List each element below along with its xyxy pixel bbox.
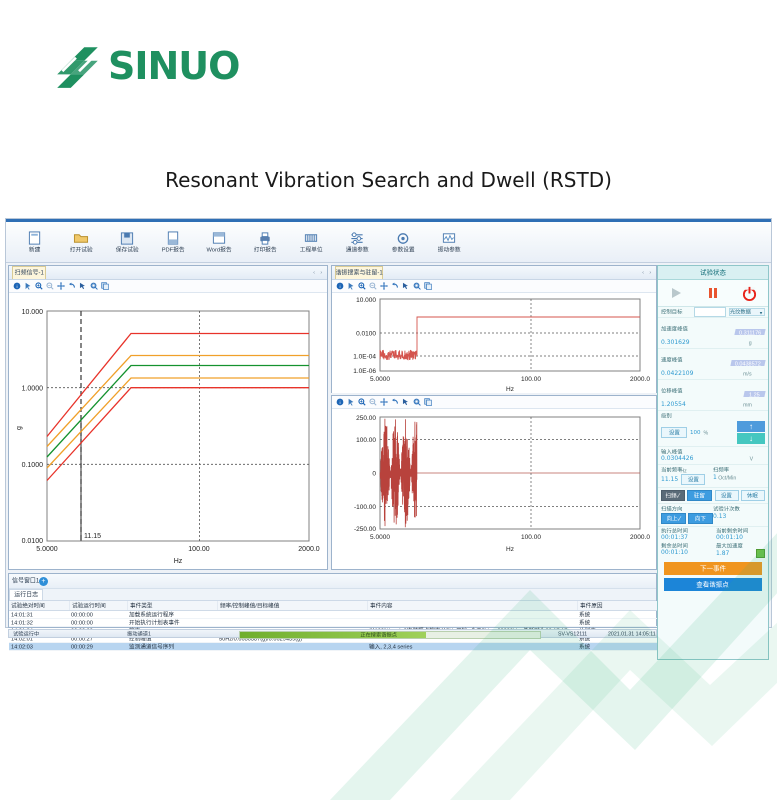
metric-unit: m/s	[744, 371, 765, 376]
svg-text:0.0100: 0.0100	[356, 331, 376, 338]
sweep-profile-chart[interactable]: 10.000 1.0000 0.1000 0.0100 5.0000 100.0…	[9, 293, 327, 569]
undo-arrow-icon[interactable]	[391, 398, 399, 406]
log-cell-2: 开始执行计划表事件	[127, 619, 217, 627]
svg-text:Hz: Hz	[506, 546, 514, 553]
stop-button[interactable]	[739, 284, 761, 302]
resonance-magnitude-chart[interactable]: 10.000 0.0100 1.0E-04 1.0E-06 5.0000 100…	[332, 293, 656, 393]
log-cell-0: 14:01:31	[9, 611, 69, 619]
chevron-down-icon: ▾	[760, 309, 763, 315]
input-peak-label: 输入峰值	[661, 448, 682, 456]
log-cell-0: 14:01:32	[9, 619, 69, 627]
toolbar-button-6[interactable]: 工程单位	[288, 231, 334, 253]
pan-icon[interactable]	[57, 282, 65, 290]
tab-run-log-label: 运行日志	[14, 591, 38, 599]
test-count-group: 试验计次数 0.13	[713, 506, 765, 524]
dir-down-label: 向下	[695, 515, 706, 523]
page-title: Resonant Vibration Search and Dwell (RST…	[0, 168, 777, 192]
mode-sweep-label: 扫频✓	[666, 492, 681, 500]
mode-sweep-button[interactable]: 扫频✓	[661, 490, 685, 501]
metric-unit: g	[749, 340, 765, 345]
metric-target: 0.311176	[734, 329, 766, 335]
svg-text:5.0000: 5.0000	[36, 546, 58, 553]
version-wrap: SV-VS12111	[554, 631, 581, 636]
rate-restore-label: 休眠	[747, 492, 758, 500]
tab-sweep-label: 扫频信号-1	[15, 269, 44, 277]
test-status-title: 试验状态	[700, 268, 726, 277]
table-row[interactable]: 14:01:3200:00:00开始执行计划表事件系统	[9, 619, 657, 627]
level-unit: %	[703, 429, 708, 435]
log-cell-5: 系统	[577, 619, 657, 627]
zoom-out-icon[interactable]	[46, 282, 54, 290]
resonance-phase-plot-area[interactable]: 250.00 100.00 0 -100.00 -250.00 5.0000 1…	[332, 409, 656, 569]
control-target-select[interactable]: 光纹数据▾	[729, 308, 765, 316]
power-icon	[742, 286, 757, 301]
toolbar-button-0[interactable]: 新建	[12, 231, 58, 253]
metric-2: 位移峰值1.251.20554mm	[658, 380, 768, 411]
input-peak-unit-wrap: V	[750, 456, 765, 461]
application-window: 新建打开试验保存试验PDF报告Word报告打印报告工程单位通道参数参数设置振动参…	[5, 218, 772, 628]
svg-text:5.0000: 5.0000	[370, 534, 390, 541]
page-root: SINUO Resonant Vibration Search and Dwel…	[0, 0, 777, 800]
zoom-region-icon[interactable]	[413, 398, 421, 406]
event-log-panel: 信号窗口1 + 运行日志 试验绝对时间试验运行时间事件类型频率/控制峰值/目标峰…	[8, 573, 657, 628]
current-freq-value: 11.15	[661, 476, 678, 483]
level-value: 100	[690, 430, 701, 436]
tab-resonance[interactable]: 谐振搜索与驻留-1	[335, 266, 383, 279]
dir-down-button[interactable]: 向下	[688, 513, 713, 524]
resonance-phase-panel: i 250.00 100.00 0 -100.00 -250.00	[331, 395, 657, 570]
svg-text:100.00: 100.00	[521, 376, 541, 383]
select-arrow-icon[interactable]	[402, 398, 410, 406]
sweep-rate-label-wrap: 扫频率	[713, 467, 765, 473]
log-col-1: 试验运行时间	[69, 601, 127, 611]
current-frequency-group: 当前频率 Hz 11.15 设置	[661, 467, 713, 485]
time-value: 1.87	[716, 550, 729, 557]
level-up-button[interactable]: ↑	[737, 421, 765, 432]
time-cell-1: 当前剩余时间00:01:10	[713, 527, 768, 542]
metric-unit: mm	[744, 402, 765, 407]
control-target-input[interactable]	[694, 307, 726, 317]
undo-arrow-icon[interactable]	[391, 282, 399, 290]
resonance-tab-nav[interactable]: ‹ ›	[642, 270, 653, 276]
info-icon[interactable]: i	[13, 282, 21, 290]
svg-text:5.0000: 5.0000	[370, 376, 390, 383]
sweep-rate-value: 1	[713, 474, 717, 481]
rate-restore-button[interactable]: 休眠	[741, 490, 765, 501]
arrow-down-icon: ↓	[749, 434, 753, 443]
svg-text:100.00: 100.00	[521, 534, 541, 541]
version-label: SV-VS12111	[558, 630, 587, 636]
svg-text:i: i	[339, 400, 340, 406]
save-disk-icon	[119, 231, 136, 246]
pan-icon[interactable]	[380, 398, 388, 406]
metric-target: 0.0438572	[731, 360, 766, 366]
zoom-in-icon[interactable]	[358, 282, 366, 290]
level-label: 级别	[661, 412, 672, 420]
status-left-wrap: 试验运行中	[9, 631, 123, 637]
status-left: 试验运行中	[13, 630, 39, 638]
play-icon	[669, 286, 683, 300]
sweep-dir-label: 扫描方向	[661, 505, 682, 513]
sweep-signal-panel: 扫频信号-1 ‹ › i	[8, 265, 328, 570]
toolbar-button-9[interactable]: 振动参数	[426, 231, 472, 253]
svg-text:2000.0: 2000.0	[630, 376, 650, 383]
log-header-row: 试验绝对时间试验运行时间事件类型频率/控制峰值/目标峰值事件内容事件原因	[9, 601, 657, 611]
control-target-value: 光纹数据	[730, 308, 751, 316]
table-row[interactable]: 14:01:3100:00:00加载系统运行程序系统	[9, 611, 657, 619]
units-icon	[303, 231, 320, 246]
log-cell-4: 输入, 2,3,4 series	[367, 643, 577, 651]
log-col-4: 事件内容	[367, 601, 577, 611]
copy-chart-icon[interactable]	[424, 282, 432, 290]
test-count-label-wrap: 试验计次数	[713, 506, 765, 512]
test-status-title-wrap: 试验状态	[658, 266, 768, 280]
toolbar-label: 新建	[29, 246, 41, 254]
log-cell-4	[367, 619, 577, 627]
current-freq-unit-wrap: Hz	[681, 468, 686, 473]
zoom-region-icon[interactable]	[413, 282, 421, 290]
zoom-in-icon[interactable]	[358, 398, 366, 406]
pause-icon	[706, 286, 720, 300]
toolbar-label: PDF报告	[161, 246, 184, 254]
view-resonance-label: 查看谐振点	[697, 580, 730, 589]
progress-label: 正在搜索谐振点	[360, 631, 397, 639]
svg-text:11.15: 11.15	[84, 533, 101, 540]
progress-label-wrap: 正在搜索谐振点	[364, 632, 393, 638]
transport-controls	[658, 280, 768, 307]
info-icon[interactable]: i	[336, 398, 344, 406]
svg-text:2000.0: 2000.0	[298, 546, 320, 553]
log-cell-0: 14:02:03	[9, 643, 69, 651]
freq-set-label: 设置	[688, 476, 699, 484]
copy-chart-icon[interactable]	[101, 282, 109, 290]
level-down-button[interactable]: ↓	[737, 433, 765, 444]
sweep-tabbar: 扫频信号-1 ‹ ›	[9, 266, 327, 280]
dir-up-label: 向上✓	[666, 515, 681, 523]
svg-text:10.000: 10.000	[22, 309, 44, 316]
sweep-direction-group: 扫描方向 向上✓ 向下	[661, 506, 713, 524]
status-bar: 试验运行中 振动通道1 正在搜索谐振点 SV-VS12111 2021.01.3…	[8, 629, 657, 638]
tab-run-log[interactable]: 运行日志	[9, 589, 43, 600]
signal-window-bar: 信号窗口1 +	[9, 574, 656, 589]
metric-label: 加速度峰值	[661, 326, 682, 332]
mode-dwell-label: 驻留	[694, 492, 705, 500]
log-cell-1: 00:00:00	[69, 611, 127, 619]
zoom-out-icon[interactable]	[369, 282, 377, 290]
svg-text:0: 0	[372, 471, 376, 478]
log-tabbar: 运行日志	[9, 589, 656, 601]
copy-chart-icon[interactable]	[424, 398, 432, 406]
svg-text:1.0000: 1.0000	[22, 386, 44, 393]
resonance-magnitude-panel: 谐振搜索与驻留-1 ‹ › i 10.000 0.0100 1.0E-04	[331, 265, 657, 393]
log-cell-5: 系统	[577, 611, 657, 619]
signal-window-label: 信号窗口1	[12, 577, 39, 585]
sweep-dir-label-wrap: 扫描方向	[661, 506, 713, 512]
input-peak-value: 0.0304426	[661, 455, 693, 462]
sweep-chart-toolbar: i	[9, 280, 327, 293]
sweep-plot-area[interactable]: 10.000 1.0000 0.1000 0.0100 5.0000 100.0…	[9, 293, 327, 569]
control-target-label: 控制目标	[661, 308, 682, 316]
next-event-button[interactable]: 下一事件	[664, 562, 762, 575]
resonance-mag-plot-area[interactable]: 10.000 0.0100 1.0E-04 1.0E-06 5.0000 100…	[332, 293, 656, 393]
log-cell-5: 系统	[577, 643, 657, 651]
svg-text:100.00: 100.00	[356, 437, 376, 444]
test-count-label: 试验计次数	[713, 505, 740, 513]
direction-count-block: 扫描方向 向上✓ 向下 试验计次数 0.13	[658, 504, 768, 527]
metric-target: 1.25	[743, 391, 765, 397]
run-button[interactable]	[665, 284, 687, 302]
log-cell-2: 监测通道信号序列	[127, 643, 217, 651]
word-report-icon	[211, 231, 228, 246]
level-label-wrap: 级别	[661, 413, 765, 419]
metric-label: 速度峰值	[661, 357, 678, 363]
sweep-tab-nav[interactable]: ‹ ›	[313, 270, 324, 276]
toolbar-button-1[interactable]: 打开试验	[58, 231, 104, 253]
event-log-table: 试验绝对时间试验运行时间事件类型频率/控制峰值/目标峰值事件内容事件原因 14:…	[9, 601, 658, 651]
vibration-params-icon	[441, 231, 458, 246]
metrics-list: 加速度峰值0.3111760.301629g速度峰值0.04385720.042…	[658, 318, 768, 411]
current-freq-label-wrap: 当前频率	[661, 467, 678, 473]
undo-arrow-icon[interactable]	[68, 282, 76, 290]
metric-1: 速度峰值0.04385720.0422109m/s	[658, 349, 768, 380]
test-status-panel: 试验状态 控制目标 光纹数据▾ 加	[657, 265, 769, 660]
metric-0: 加速度峰值0.3111760.301629g	[658, 318, 768, 349]
svg-text:100.00: 100.00	[188, 546, 210, 553]
control-target-row: 控制目标 光纹数据▾	[658, 307, 768, 318]
toolbar-label: 打印报告	[253, 246, 276, 254]
toolbar-button-2[interactable]: 保存试验	[104, 231, 150, 253]
svg-text:i: i	[16, 284, 17, 290]
table-row[interactable]: 14:02:0300:00:29监测通道信号序列输入, 2,3,4 series…	[9, 643, 657, 651]
log-col-3: 频率/控制峰值/目标峰值	[217, 601, 367, 611]
add-circle-icon[interactable]: +	[39, 577, 48, 586]
sweep-rate-group: 扫频率 1 Oct/Min	[713, 467, 765, 485]
time-value: 00:01:37	[661, 534, 688, 541]
datetime-label: 2021.01.31 14:05:11	[608, 630, 656, 636]
toolbar-label: 工程单位	[299, 246, 322, 254]
metric-value: 0.0422109	[661, 370, 693, 377]
toolbar-label: 参数设置	[391, 246, 414, 254]
svg-text:1.0E-06: 1.0E-06	[353, 368, 376, 375]
pointer-icon[interactable]	[24, 282, 32, 290]
log-col-0: 试验绝对时间	[9, 601, 69, 611]
log-col-2: 事件类型	[127, 601, 217, 611]
metric-value: 0.301629	[661, 339, 690, 346]
time-cell-3: 最大加速度1.87	[713, 542, 768, 559]
times-wrap: 执行总时间00:01:37当前剩余时间00:01:10剩余总时间00:01:10…	[658, 527, 768, 559]
zoom-out-icon[interactable]	[369, 398, 377, 406]
svg-text:2000.0: 2000.0	[630, 534, 650, 541]
time-cell-2: 剩余总时间00:01:10	[658, 542, 713, 559]
log-cell-1: 00:00:00	[69, 619, 127, 627]
current-freq-label: 当前频率	[661, 466, 682, 474]
next-event-label: 下一事件	[700, 564, 726, 573]
mode-dwell-button[interactable]: 驻留	[687, 490, 711, 501]
zoom-region-icon[interactable]	[90, 282, 98, 290]
metric-value: 1.20554	[661, 401, 686, 408]
resonance-phase-toolbar: i	[332, 396, 656, 409]
log-cell-1: 00:00:29	[69, 643, 127, 651]
progress-fill	[240, 632, 426, 638]
svg-text:0.0100: 0.0100	[22, 538, 44, 545]
resonance-mag-toolbar: i	[332, 280, 656, 293]
time-value: 00:01:10	[661, 549, 688, 556]
pointer-icon[interactable]	[347, 282, 355, 290]
dir-up-button[interactable]: 向上✓	[661, 513, 686, 524]
arrow-up-icon: ↑	[749, 422, 753, 431]
freq-set-button[interactable]: 设置	[681, 474, 705, 485]
status-center-wrap: 振动通道1	[123, 631, 237, 637]
toolbar-button-4[interactable]: Word报告	[196, 231, 242, 253]
select-arrow-icon[interactable]	[402, 282, 410, 290]
toolbar-label: Word报告	[206, 246, 231, 254]
resonance-tabbar: 谐振搜索与驻留-1 ‹ ›	[332, 266, 656, 280]
brand-name: SINUO	[108, 44, 239, 88]
channel-params-icon	[349, 231, 366, 246]
level-set-button[interactable]: 设置	[661, 427, 687, 438]
pause-button[interactable]	[702, 284, 724, 302]
toolbar-label: 振动参数	[437, 246, 460, 254]
times-grid: 执行总时间00:01:37当前剩余时间00:01:10剩余总时间00:01:10…	[658, 527, 768, 559]
log-cell-3	[217, 643, 367, 651]
log-cell-4	[367, 611, 577, 619]
toolbar-label: 打开试验	[69, 246, 92, 254]
toolbar-label: 保存试验	[115, 246, 138, 254]
view-resonance-button[interactable]: 查看谐振点	[664, 578, 762, 591]
signal-window-label-wrap: 信号窗口1	[12, 578, 33, 584]
svg-text:Hz: Hz	[174, 558, 183, 565]
sinuo-logo-icon	[52, 40, 104, 92]
settings-gear-icon	[395, 231, 412, 246]
current-freq-unit: Hz	[680, 467, 686, 473]
log-cell-3	[217, 619, 367, 627]
sweep-rate-label: 扫频率	[713, 466, 729, 474]
time-cell-0: 执行总时间00:01:37	[658, 527, 713, 542]
datetime-wrap: 2021.01.31 14:05:11	[604, 631, 646, 636]
log-cell-2: 加载系统运行程序	[127, 611, 217, 619]
level-block: 级别 设置 100 % ↑ ↓	[658, 411, 768, 447]
svg-text:250.00: 250.00	[356, 415, 376, 422]
toolbar-button-5[interactable]: 打印报告	[242, 231, 288, 253]
printer-icon	[257, 231, 274, 246]
svg-text:g: g	[16, 426, 23, 430]
log-col-5: 事件原因	[577, 601, 657, 611]
input-peak-unit: V	[750, 455, 753, 461]
sweep-rate-unit-wrap: Oct/Min	[720, 475, 734, 480]
status-center: 振动通道1	[127, 630, 151, 638]
svg-text:i: i	[339, 284, 340, 290]
sweep-mode-block: 扫频✓ 驻留 设置 休眠	[658, 488, 768, 504]
open-folder-icon	[73, 231, 90, 246]
tab-sweep-signal[interactable]: 扫频信号-1	[12, 266, 46, 279]
control-target-label-wrap: 控制目标	[661, 309, 691, 315]
pan-icon[interactable]	[380, 282, 388, 290]
info-icon[interactable]: i	[336, 282, 344, 290]
level-set-label: 设置	[668, 429, 679, 437]
resonance-phase-chart[interactable]: 250.00 100.00 0 -100.00 -250.00 5.0000 1…	[332, 409, 656, 569]
zoom-in-icon[interactable]	[35, 282, 43, 290]
svg-text:0.1000: 0.1000	[22, 462, 44, 469]
rate-set-label: 设置	[721, 492, 732, 500]
status-led-icon	[756, 549, 765, 558]
test-count-value: 0.13	[713, 513, 765, 520]
toolbar-label: 通道参数	[345, 246, 368, 254]
svg-text:1.0E-04: 1.0E-04	[353, 354, 376, 361]
frequency-rate-block: 当前频率 Hz 11.15 设置 扫频率 1 Oct/Min	[658, 465, 768, 488]
select-arrow-icon[interactable]	[79, 282, 87, 290]
level-unit-wrap: %	[704, 430, 708, 435]
svg-text:-250.00: -250.00	[354, 526, 376, 533]
svg-text:10.000: 10.000	[356, 297, 376, 304]
toolbar-button-7[interactable]: 通道参数	[334, 231, 380, 253]
tab-resonance-label: 谐振搜索与驻留-1	[336, 269, 383, 277]
main-toolbar: 新建打开试验保存试验PDF报告Word报告打印报告工程单位通道参数参数设置振动参…	[6, 222, 771, 263]
log-cell-3	[217, 611, 367, 619]
brand-logo: SINUO	[52, 40, 239, 92]
metric-label: 位移峰值	[661, 388, 678, 394]
rate-set-button[interactable]: 设置	[715, 490, 739, 501]
pdf-report-icon	[165, 231, 182, 246]
pointer-icon[interactable]	[347, 398, 355, 406]
input-peak-block: 输入峰值 0.0304426 V	[658, 447, 768, 465]
workspace: 扫频信号-1 ‹ › i	[6, 263, 771, 630]
time-value: 00:01:10	[716, 534, 743, 541]
toolbar-button-8[interactable]: 参数设置	[380, 231, 426, 253]
new-file-icon	[27, 231, 44, 246]
sweep-rate-unit: Oct/Min	[718, 474, 736, 480]
toolbar-button-3[interactable]: PDF报告	[150, 231, 196, 253]
svg-text:-100.00: -100.00	[354, 504, 376, 511]
svg-text:Hz: Hz	[506, 386, 514, 393]
